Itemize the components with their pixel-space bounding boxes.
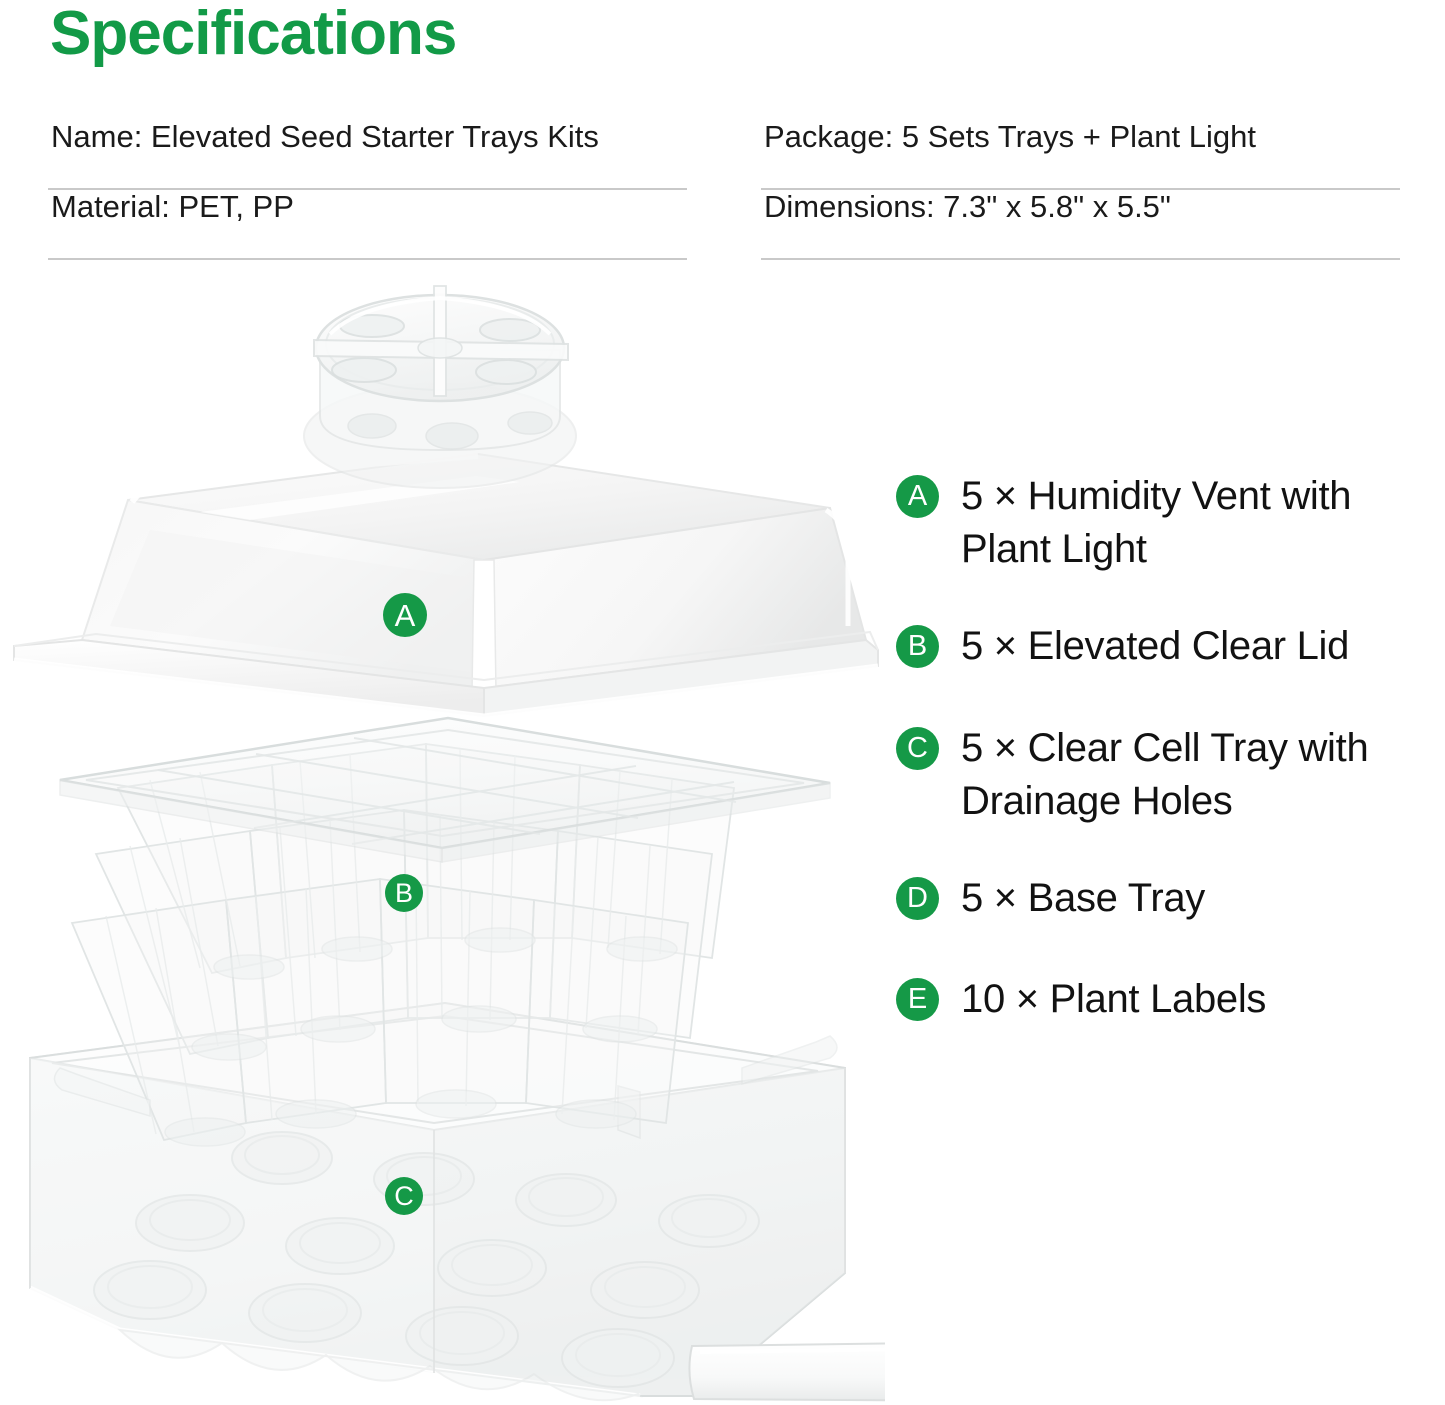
spec-name-value: Name: Elevated Seed Starter Trays Kits (48, 120, 599, 153)
spec-row-package: Package: 5 Sets Trays + Plant Light (761, 120, 1400, 190)
spec-material-value: Material: PET, PP (48, 190, 294, 223)
legend-badge-a: A (896, 475, 939, 518)
marker-badge-b: B (385, 874, 423, 912)
specifications-page: Specifications Name: Elevated Seed Start… (0, 0, 1445, 1405)
marker-badge-a: A (383, 593, 427, 637)
parts-legend: A 5 × Humidity Vent with Plant Light B 5… (896, 470, 1445, 1070)
legend-badge-c: C (896, 727, 939, 770)
elevated-clear-lid-graphic (14, 454, 885, 730)
spec-row-name: Name: Elevated Seed Starter Trays Kits (48, 120, 687, 190)
product-exploded-illustration: A B C D E (0, 268, 885, 1405)
legend-badge-d: D (896, 877, 939, 920)
legend-badge-b: B (896, 625, 939, 668)
spec-row-dimensions: Dimensions: 7.3" x 5.8" x 5.5" (761, 190, 1400, 260)
page-title: Specifications (50, 0, 456, 69)
legend-badge-e: E (896, 978, 939, 1021)
legend-label-d: 5 × Base Tray (961, 872, 1205, 925)
legend-item-a: A 5 × Humidity Vent with Plant Light (896, 470, 1445, 576)
spec-grid: Name: Elevated Seed Starter Trays Kits P… (48, 120, 1400, 260)
legend-item-c: C 5 × Clear Cell Tray with Drainage Hole… (896, 722, 1445, 828)
legend-label-b: 5 × Elevated Clear Lid (961, 620, 1349, 673)
legend-item-b: B 5 × Elevated Clear Lid (896, 620, 1445, 673)
spec-package-value: Package: 5 Sets Trays + Plant Light (761, 120, 1256, 153)
spec-dimensions-value: Dimensions: 7.3" x 5.8" x 5.5" (761, 190, 1171, 223)
spec-row-material: Material: PET, PP (48, 190, 687, 260)
legend-label-c: 5 × Clear Cell Tray with Drainage Holes (961, 722, 1445, 828)
legend-label-e: 10 × Plant Labels (961, 973, 1266, 1026)
legend-label-a: 5 × Humidity Vent with Plant Light (961, 470, 1445, 576)
marker-badge-c: C (385, 1177, 423, 1215)
legend-item-e: E 10 × Plant Labels (896, 973, 1445, 1026)
plant-label-graphic (686, 1342, 885, 1405)
legend-item-d: D 5 × Base Tray (896, 872, 1445, 925)
humidity-vent-graphic (304, 286, 576, 488)
